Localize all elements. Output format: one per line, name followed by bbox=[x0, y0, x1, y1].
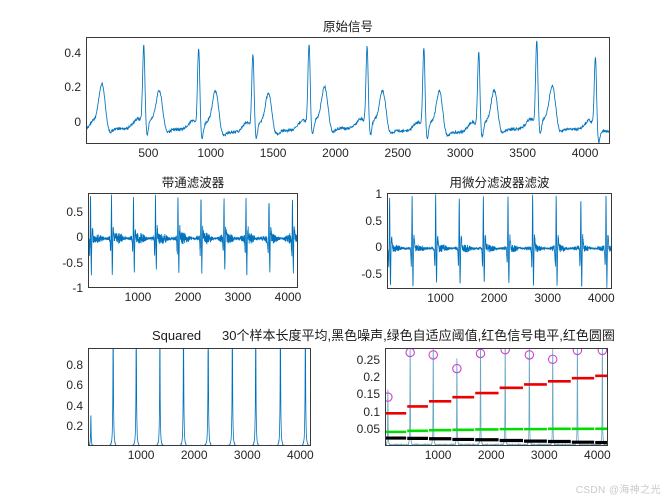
y-axis-ticks-integrated: 0.050.10.150.20.25 bbox=[325, 348, 380, 446]
y-tick-label: 0.6 bbox=[66, 379, 83, 391]
csdn-watermark: CSDN @海神之光 bbox=[576, 481, 661, 496]
x-tick-label: 3000 bbox=[447, 147, 474, 159]
x-tick-label: 1000 bbox=[128, 449, 155, 461]
x-tick-label: 2000 bbox=[181, 449, 208, 461]
y-tick-label: 0.8 bbox=[66, 359, 83, 371]
y-tick-label: 0.2 bbox=[64, 81, 81, 93]
x-tick-label: 2500 bbox=[385, 147, 412, 159]
x-tick-label: 1000 bbox=[125, 291, 152, 303]
axes-integrated-threshold bbox=[385, 348, 608, 446]
y-tick-label: 0.05 bbox=[357, 423, 380, 435]
x-axis-ticks-bandpass: 1000200030004000 bbox=[88, 291, 298, 305]
y-tick-label: 0.5 bbox=[365, 215, 382, 227]
x-tick-label: 4000 bbox=[588, 292, 615, 304]
x-tick-label: 4000 bbox=[275, 291, 302, 303]
y-axis-ticks-original: 00.20.4 bbox=[26, 37, 81, 144]
x-tick-label: 2000 bbox=[481, 292, 508, 304]
x-tick-label: 2000 bbox=[175, 291, 202, 303]
y-tick-label: 0.25 bbox=[357, 354, 380, 366]
subplot-original-signal: 原始信号 00.20.4 500100015002000250030003500… bbox=[26, 19, 610, 166]
x-tick-label: 4000 bbox=[572, 147, 599, 159]
x-tick-label: 1000 bbox=[197, 147, 224, 159]
subplot-title-squared: Squared bbox=[152, 329, 201, 343]
x-tick-label: 500 bbox=[138, 147, 158, 159]
axes-original-signal bbox=[86, 37, 610, 144]
axes-derivative-filter bbox=[387, 193, 612, 289]
x-tick-label: 4000 bbox=[287, 449, 314, 461]
x-axis-ticks-original: 5001000150020002500300035004000 bbox=[86, 147, 610, 161]
y-axis-ticks-bandpass: -1-0.500.5 bbox=[28, 193, 83, 288]
subplot-squared: 0.20.40.60.8 1000200030004000 bbox=[28, 330, 311, 468]
y-tick-label: -1 bbox=[72, 282, 83, 294]
x-tick-label: 4000 bbox=[584, 449, 611, 461]
x-axis-ticks-derivative: 1000200030004000 bbox=[387, 292, 612, 306]
x-tick-label: 1000 bbox=[427, 292, 454, 304]
x-tick-label: 2000 bbox=[322, 147, 349, 159]
y-tick-label: -0.5 bbox=[361, 268, 382, 280]
y-tick-label: 0 bbox=[74, 116, 81, 128]
subplot-title-integrated: 30个样本长度平均,黑色噪声,绿色自适应阈值,红色信号电平,红色圆圈 bbox=[222, 329, 615, 343]
x-axis-ticks-integrated: 1000200030004000 bbox=[385, 449, 608, 463]
subplot-title-derivative: 用微分滤波器滤波 bbox=[387, 176, 612, 190]
subplot-derivative-filter: 用微分滤波器滤波 -0.500.51 1000200030004000 bbox=[327, 175, 612, 311]
y-tick-label: 0.5 bbox=[66, 206, 83, 218]
y-tick-label: -0.5 bbox=[62, 257, 83, 269]
y-tick-label: 0.2 bbox=[66, 420, 83, 432]
y-tick-label: 0 bbox=[375, 241, 382, 253]
axes-bandpass-filter bbox=[88, 193, 298, 288]
x-tick-label: 1000 bbox=[425, 449, 452, 461]
x-tick-label: 3000 bbox=[531, 449, 558, 461]
y-tick-label: 0.15 bbox=[357, 388, 380, 400]
y-axis-ticks-squared: 0.20.40.60.8 bbox=[28, 348, 83, 446]
x-tick-label: 1500 bbox=[260, 147, 287, 159]
x-tick-label: 3000 bbox=[234, 449, 261, 461]
x-axis-ticks-squared: 1000200030004000 bbox=[88, 449, 311, 463]
y-tick-label: 0.2 bbox=[363, 371, 380, 383]
x-tick-label: 3000 bbox=[534, 292, 561, 304]
y-axis-ticks-derivative: -0.500.51 bbox=[327, 193, 382, 289]
x-tick-label: 3000 bbox=[225, 291, 252, 303]
matlab-figure-window: 原始信号 00.20.4 500100015002000250030003500… bbox=[0, 0, 667, 500]
subplot-title-original: 原始信号 bbox=[86, 20, 610, 34]
y-tick-label: 0.4 bbox=[64, 47, 81, 59]
y-tick-label: 0.4 bbox=[66, 400, 83, 412]
y-tick-label: 0 bbox=[76, 231, 83, 243]
x-tick-label: 2000 bbox=[478, 449, 505, 461]
subplot-bandpass-filter: 带通滤波器 -1-0.500.5 1000200030004000 bbox=[28, 175, 298, 310]
y-tick-label: 1 bbox=[375, 188, 382, 200]
subplot-integrated-threshold: 0.050.10.150.20.25 1000200030004000 bbox=[325, 330, 608, 468]
x-tick-label: 3500 bbox=[509, 147, 536, 159]
y-tick-label: 0.1 bbox=[363, 406, 380, 418]
subplot-title-bandpass: 带通滤波器 bbox=[88, 176, 298, 190]
axes-squared bbox=[88, 348, 311, 446]
